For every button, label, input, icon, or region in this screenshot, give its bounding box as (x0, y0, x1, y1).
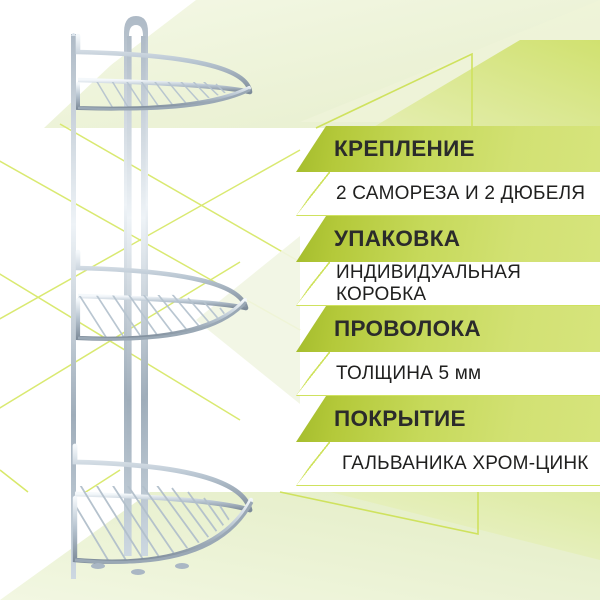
spec-heading-label: КРЕПЛЕНИЕ (296, 136, 475, 162)
spec-value-upakovka: ИНДИВИДУАЛЬНАЯ КОРОБКА (296, 262, 600, 306)
spec-heading-provoloka: ПРОВОЛОКА (296, 306, 600, 352)
spec-heading-label: УПАКОВКА (296, 226, 460, 252)
spec-heading-krepleniye: КРЕПЛЕНИЕ (296, 126, 600, 172)
spec-heading-label: ПРОВОЛОКА (296, 316, 481, 342)
spec-value-label: ТОЛЩИНА 5 мм (296, 363, 481, 385)
spec-value-label: ГАЛЬВАНИКА ХРОМ-ЦИНК (296, 453, 589, 475)
spec-value-label: ИНДИВИДУАЛЬНАЯ КОРОБКА (296, 262, 600, 306)
spec-list: КРЕПЛЕНИЕ 2 САМОРЕЗА И 2 ДЮБЕЛЯ УПАКОВКА… (0, 0, 600, 600)
spec-heading-pokrytiye: ПОКРЫТИЕ (296, 396, 600, 442)
spec-value-provoloka: ТОЛЩИНА 5 мм (296, 352, 600, 396)
spec-heading-label: ПОКРЫТИЕ (296, 406, 466, 432)
spec-value-label: 2 САМОРЕЗА И 2 ДЮБЕЛЯ (296, 183, 585, 205)
spec-value-pokrytiye: ГАЛЬВАНИКА ХРОМ-ЦИНК (296, 442, 600, 486)
infographic-canvas: КРЕПЛЕНИЕ 2 САМОРЕЗА И 2 ДЮБЕЛЯ УПАКОВКА… (0, 0, 600, 600)
spec-value-krepleniye: 2 САМОРЕЗА И 2 ДЮБЕЛЯ (296, 172, 600, 216)
spec-heading-upakovka: УПАКОВКА (296, 216, 600, 262)
